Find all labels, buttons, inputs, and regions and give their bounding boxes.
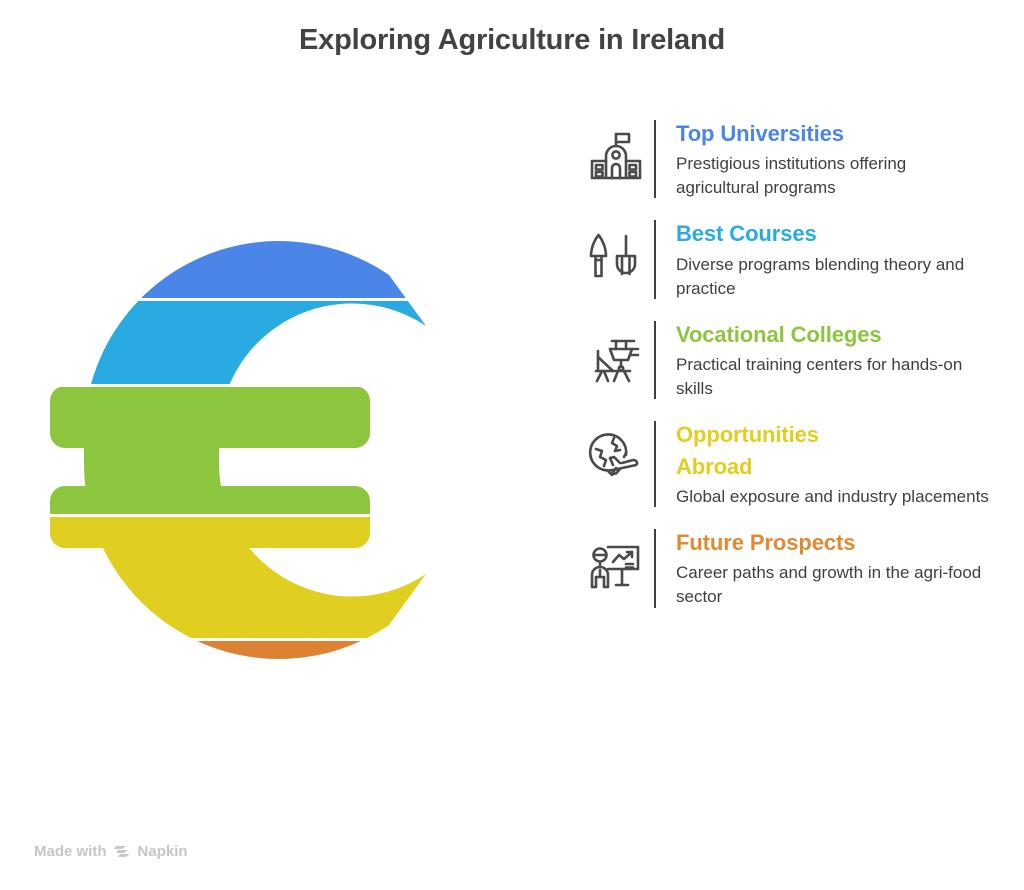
feature-heading: Future Prospects: [676, 527, 992, 558]
feature-description: Prestigious institutions offering agricu…: [676, 152, 992, 200]
shovel-pitchfork-icon: [578, 218, 654, 286]
presentation-person-chart-icon: [578, 527, 654, 595]
feature-text: Best Courses Diverse programs blending t…: [656, 218, 998, 300]
napkin-brand-label: Napkin: [138, 843, 188, 860]
feature-description: Career paths and growth in the agri-food…: [676, 561, 992, 609]
infographic-page: Exploring Agriculture in Ireland: [0, 0, 1024, 890]
feature-item-future-prospects[interactable]: Future Prospects Career paths and growth…: [578, 527, 998, 609]
workshop-machinery-icon: [578, 319, 654, 387]
feature-description: Global exposure and industry placements: [676, 485, 989, 509]
euro-symbol-graphic: [34, 170, 534, 730]
globe-airplane-icon: [578, 419, 654, 487]
feature-description: Practical training centers for hands-on …: [676, 353, 992, 401]
made-with-label: Made with: [34, 843, 107, 860]
feature-item-top-universities[interactable]: Top Universities Prestigious institution…: [578, 118, 998, 200]
feature-text: Top Universities Prestigious institution…: [656, 118, 998, 200]
napkin-logo-icon: [114, 844, 131, 859]
feature-item-opportunities-abroad[interactable]: Opportunities Abroad Global exposure and…: [578, 419, 998, 509]
footer-watermark[interactable]: Made with Napkin: [34, 843, 188, 860]
feature-item-vocational-colleges[interactable]: Vocational Colleges Practical training c…: [578, 319, 998, 401]
feature-heading: Vocational Colleges: [676, 319, 992, 350]
feature-heading: Top Universities: [676, 118, 992, 149]
feature-heading: Opportunities Abroad: [676, 419, 866, 481]
feature-heading: Best Courses: [676, 218, 992, 249]
feature-description: Diverse programs blending theory and pra…: [676, 253, 992, 301]
university-building-icon: [578, 118, 654, 186]
feature-text: Vocational Colleges Practical training c…: [656, 319, 998, 401]
feature-text: Opportunities Abroad Global exposure and…: [656, 419, 995, 509]
page-title: Exploring Agriculture in Ireland: [0, 24, 1024, 57]
feature-list: Top Universities Prestigious institution…: [578, 118, 998, 628]
feature-item-best-courses[interactable]: Best Courses Diverse programs blending t…: [578, 218, 998, 300]
feature-text: Future Prospects Career paths and growth…: [656, 527, 998, 609]
